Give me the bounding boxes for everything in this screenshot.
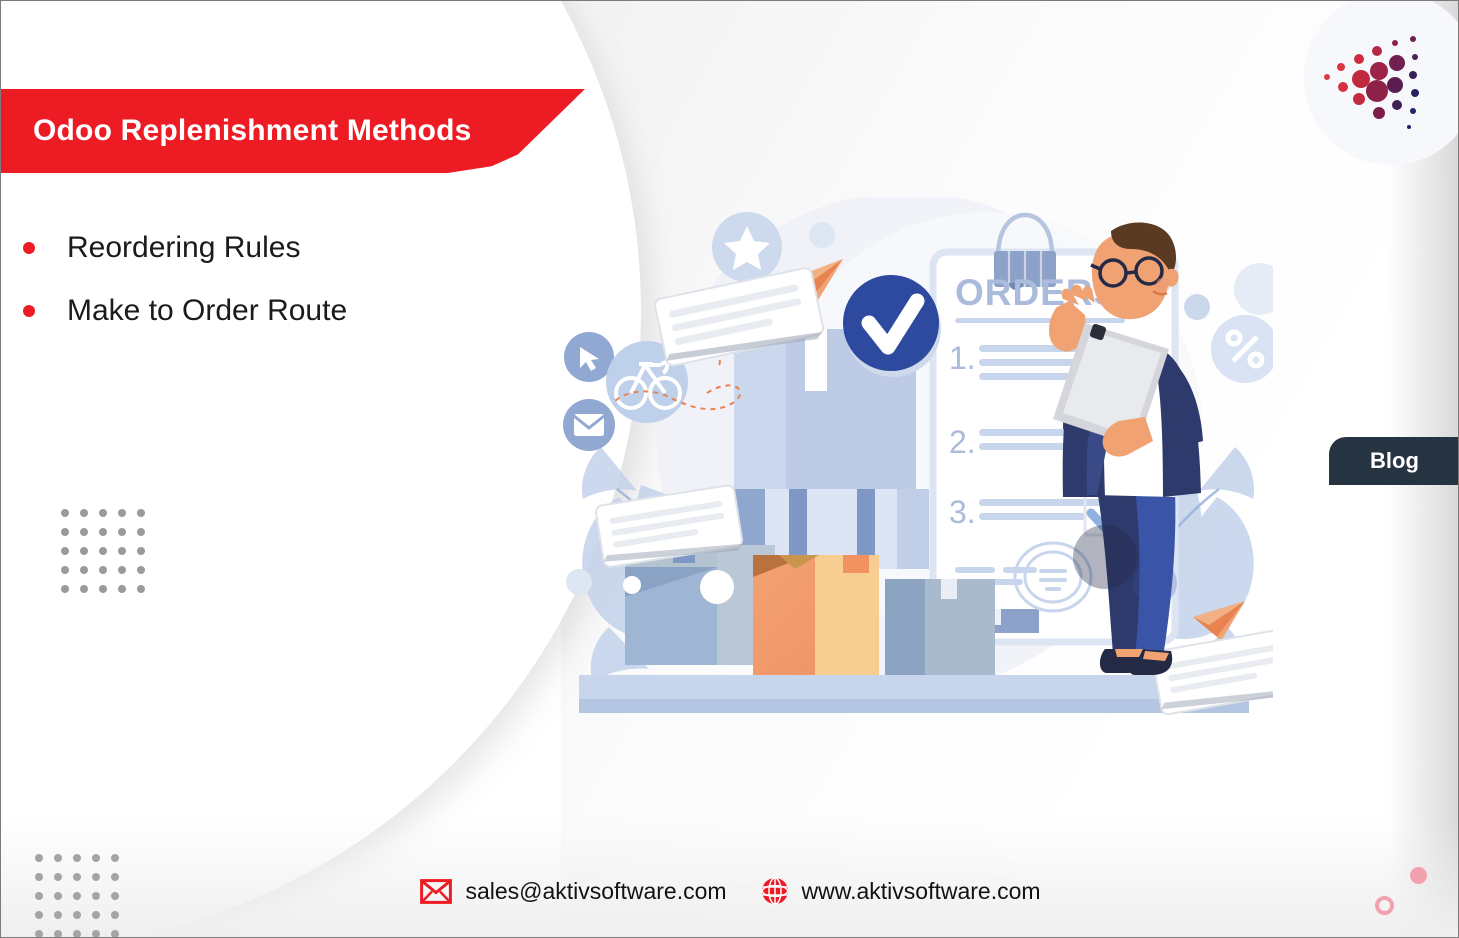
contact-email[interactable]: sales@aktivsoftware.com <box>420 878 726 905</box>
email-text: sales@aktivsoftware.com <box>465 878 726 905</box>
svg-text:2.: 2. <box>949 424 976 460</box>
bullet-dot-icon <box>23 305 35 317</box>
percent-badge-icon <box>1211 315 1273 383</box>
deco-dot-6 <box>1234 263 1273 315</box>
blog-tab-label: Blog <box>1370 448 1419 474</box>
list-item: Make to Order Route <box>23 292 523 330</box>
title-banner: Odoo Replenishment Methods <box>1 89 585 173</box>
blog-tab[interactable]: Blog <box>1329 437 1459 485</box>
deco-dot-7 <box>1073 525 1137 589</box>
deco-dot-1 <box>809 222 835 248</box>
bullet-list: Reordering Rules Make to Order Route <box>23 229 523 354</box>
star-badge-icon <box>712 212 782 282</box>
dot-grid-decoration-middle <box>61 509 145 593</box>
order-fulfillment-illustration: ORDERS 1. 2. 3. <box>557 197 1273 737</box>
slide-canvas: ORDERS 1. 2. 3. <box>0 0 1459 938</box>
deco-dot-8 <box>1133 561 1177 605</box>
list-item: Reordering Rules <box>23 229 523 267</box>
deco-dot-2 <box>566 569 592 595</box>
aktiv-software-logo <box>1319 15 1455 151</box>
bullet-dot-icon <box>23 242 35 254</box>
contact-website[interactable]: www.aktivsoftware.com <box>761 877 1041 905</box>
bullet-label: Make to Order Route <box>67 292 347 330</box>
svg-text:3.: 3. <box>949 494 976 530</box>
deco-dot-3 <box>700 570 734 604</box>
page-title: Odoo Replenishment Methods <box>1 114 472 148</box>
bullet-label: Reordering Rules <box>67 229 300 267</box>
globe-icon <box>761 877 789 905</box>
cursor-badge-icon <box>564 332 614 382</box>
deco-dot-4 <box>623 576 641 594</box>
footer-contact-bar: sales@aktivsoftware.com www.aktivsoftwar… <box>1 877 1459 905</box>
svg-text:1.: 1. <box>949 340 976 376</box>
envelope-icon <box>420 879 452 904</box>
envelope-badge-icon <box>563 399 615 451</box>
website-text: www.aktivsoftware.com <box>802 878 1041 905</box>
deco-dot-5 <box>1184 294 1210 320</box>
platform <box>579 675 1249 713</box>
